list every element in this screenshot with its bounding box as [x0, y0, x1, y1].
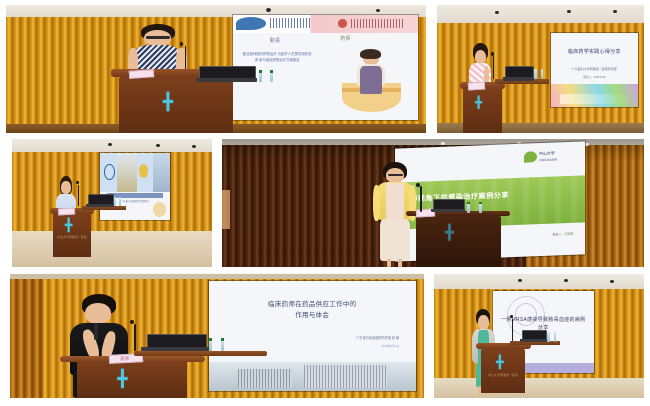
- photo-bottom-right: 一例MRSA感染导致脓毒血症的病例分享 ╋ 中山大学附属第一医院: [434, 274, 644, 398]
- bottle-cap: [467, 202, 470, 205]
- photo-top-right: 临床药学实践心得分享 广州医科大学附属第一医院药学部 报告人：2016.8.15…: [437, 5, 644, 133]
- podium: ╋ 中山大学附属第一医院: [50, 208, 94, 257]
- laptop: [199, 66, 254, 81]
- laptop: [522, 330, 545, 342]
- podium-text: 中山大学附属第一医院: [478, 374, 528, 378]
- bottle-cap: [270, 70, 273, 73]
- ceiling-spotlight: [376, 9, 380, 12]
- hospital-cross-logo: ╋: [65, 219, 72, 231]
- microphone-head: [510, 315, 513, 319]
- microphone: [185, 46, 186, 69]
- projection-screen: 职责 配合医师做好药物治疗 为医护人员提供用药咨询 参与临床药物治疗方案制定 药…: [233, 15, 418, 120]
- photo-bottom-left: 临床药师在药品供应工作中的 作用与体会 广东省妇幼保健院药学部 张 敏 2016…: [10, 274, 424, 398]
- bottle-cap: [221, 338, 224, 341]
- hospital-cross-logo: ╋: [118, 372, 128, 388]
- microphone-head: [130, 320, 134, 324]
- slide-subtitle: 广东省妇幼保健院药学部 张 敏: [271, 336, 399, 340]
- pharmacist-illustration: [334, 47, 408, 112]
- slide-date: 报告人：2016.8.15: [560, 76, 630, 80]
- handheld-microphone: [94, 323, 98, 340]
- slide-logo-text: 中山大学: [539, 150, 574, 157]
- ceiling-spotlight: [518, 279, 522, 282]
- podium: ╋: [460, 82, 506, 133]
- slide-title: 临床药学实践心得分享: [554, 49, 634, 56]
- laptop: [147, 334, 205, 351]
- photo-collage: 职责 配合医师做好药物治疗 为医护人员提供用药咨询 参与临床药物治疗方案制定 药…: [0, 0, 650, 406]
- water-bottle: [541, 69, 544, 79]
- slide-logo-block: 中山大学 孙逸仙纪念医院: [524, 149, 573, 169]
- microphone: [78, 185, 79, 205]
- ceiling-spotlight: [108, 143, 112, 146]
- microphone: [134, 324, 135, 351]
- hospital-cross-logo: ╋: [445, 225, 453, 239]
- slide-body: 配合医师做好药物治疗 为医护人员提供用药咨询 参与临床药物治疗方案制定: [242, 51, 312, 64]
- projection-screen: 临床药师在药品供应工作中的 作用与体会 广东省妇幼保健院药学部 张 敏 2016…: [209, 281, 416, 390]
- water-bottle: [534, 69, 537, 79]
- hospital-cross-logo: ╋: [163, 95, 173, 111]
- laptop: [433, 199, 463, 212]
- gold-medal-emblem: [139, 164, 148, 179]
- name-card: [58, 208, 75, 216]
- slide-title: 临床药师在药品供应工作中的 作用与体会: [225, 299, 399, 321]
- hospital-emblem: [104, 164, 115, 181]
- hospital-cross-logo: ╋: [475, 98, 482, 109]
- name-card-text: 药师: [109, 356, 141, 361]
- ceiling-spotlight: [585, 143, 589, 146]
- water-bottle: [554, 332, 557, 342]
- hospital-cross-logo: ╋: [496, 356, 503, 368]
- name-card: [468, 82, 486, 91]
- bottle-cap: [259, 70, 262, 73]
- slide-right-label: 药师: [329, 36, 362, 43]
- photo-mid-left: 广东省人民医院药学部简介 ╋ 中山大学附属第一医院: [12, 139, 212, 267]
- microphone: [493, 56, 494, 79]
- microphone: [420, 186, 421, 212]
- podium-text: 中山大学附属第一医院: [50, 236, 94, 240]
- laptop: [88, 194, 112, 207]
- podium-text: [412, 248, 505, 252]
- water-bottle: [547, 332, 550, 342]
- bottle-cap: [479, 202, 482, 205]
- slide-date: 2016年8月15日: [271, 345, 399, 349]
- podium: ╋ 中山大学附属第一医院: [478, 343, 528, 393]
- slide-title: 职责: [244, 38, 307, 45]
- ceiling-spotlight: [266, 8, 271, 12]
- microphone-head: [491, 52, 494, 56]
- microphone-head: [416, 183, 420, 187]
- laptop: [505, 66, 532, 80]
- photo-mid-right: 中山大学 孙逸仙纪念医院 药师视角下抗感染治疗案例分享 报告人：药学部: [222, 139, 644, 267]
- podium: ╋ 药师: [60, 356, 205, 398]
- slide-logo-subtext: 孙逸仙纪念医院: [539, 158, 574, 163]
- slide-subtitle: 广州医科大学附属第一医院药学部: [560, 67, 630, 71]
- microphone: [512, 319, 513, 341]
- projection-screen: 临床药学实践心得分享 广州医科大学附属第一医院药学部 报告人：2016.8.15: [551, 33, 638, 107]
- photo-top-left: 职责 配合医师做好药物治疗 为医护人员提供用药咨询 参与临床药物治疗方案制定 药…: [6, 5, 426, 133]
- podium: ╋: [412, 211, 505, 267]
- ceiling-spotlight: [441, 142, 445, 145]
- bottle-cap: [209, 338, 212, 341]
